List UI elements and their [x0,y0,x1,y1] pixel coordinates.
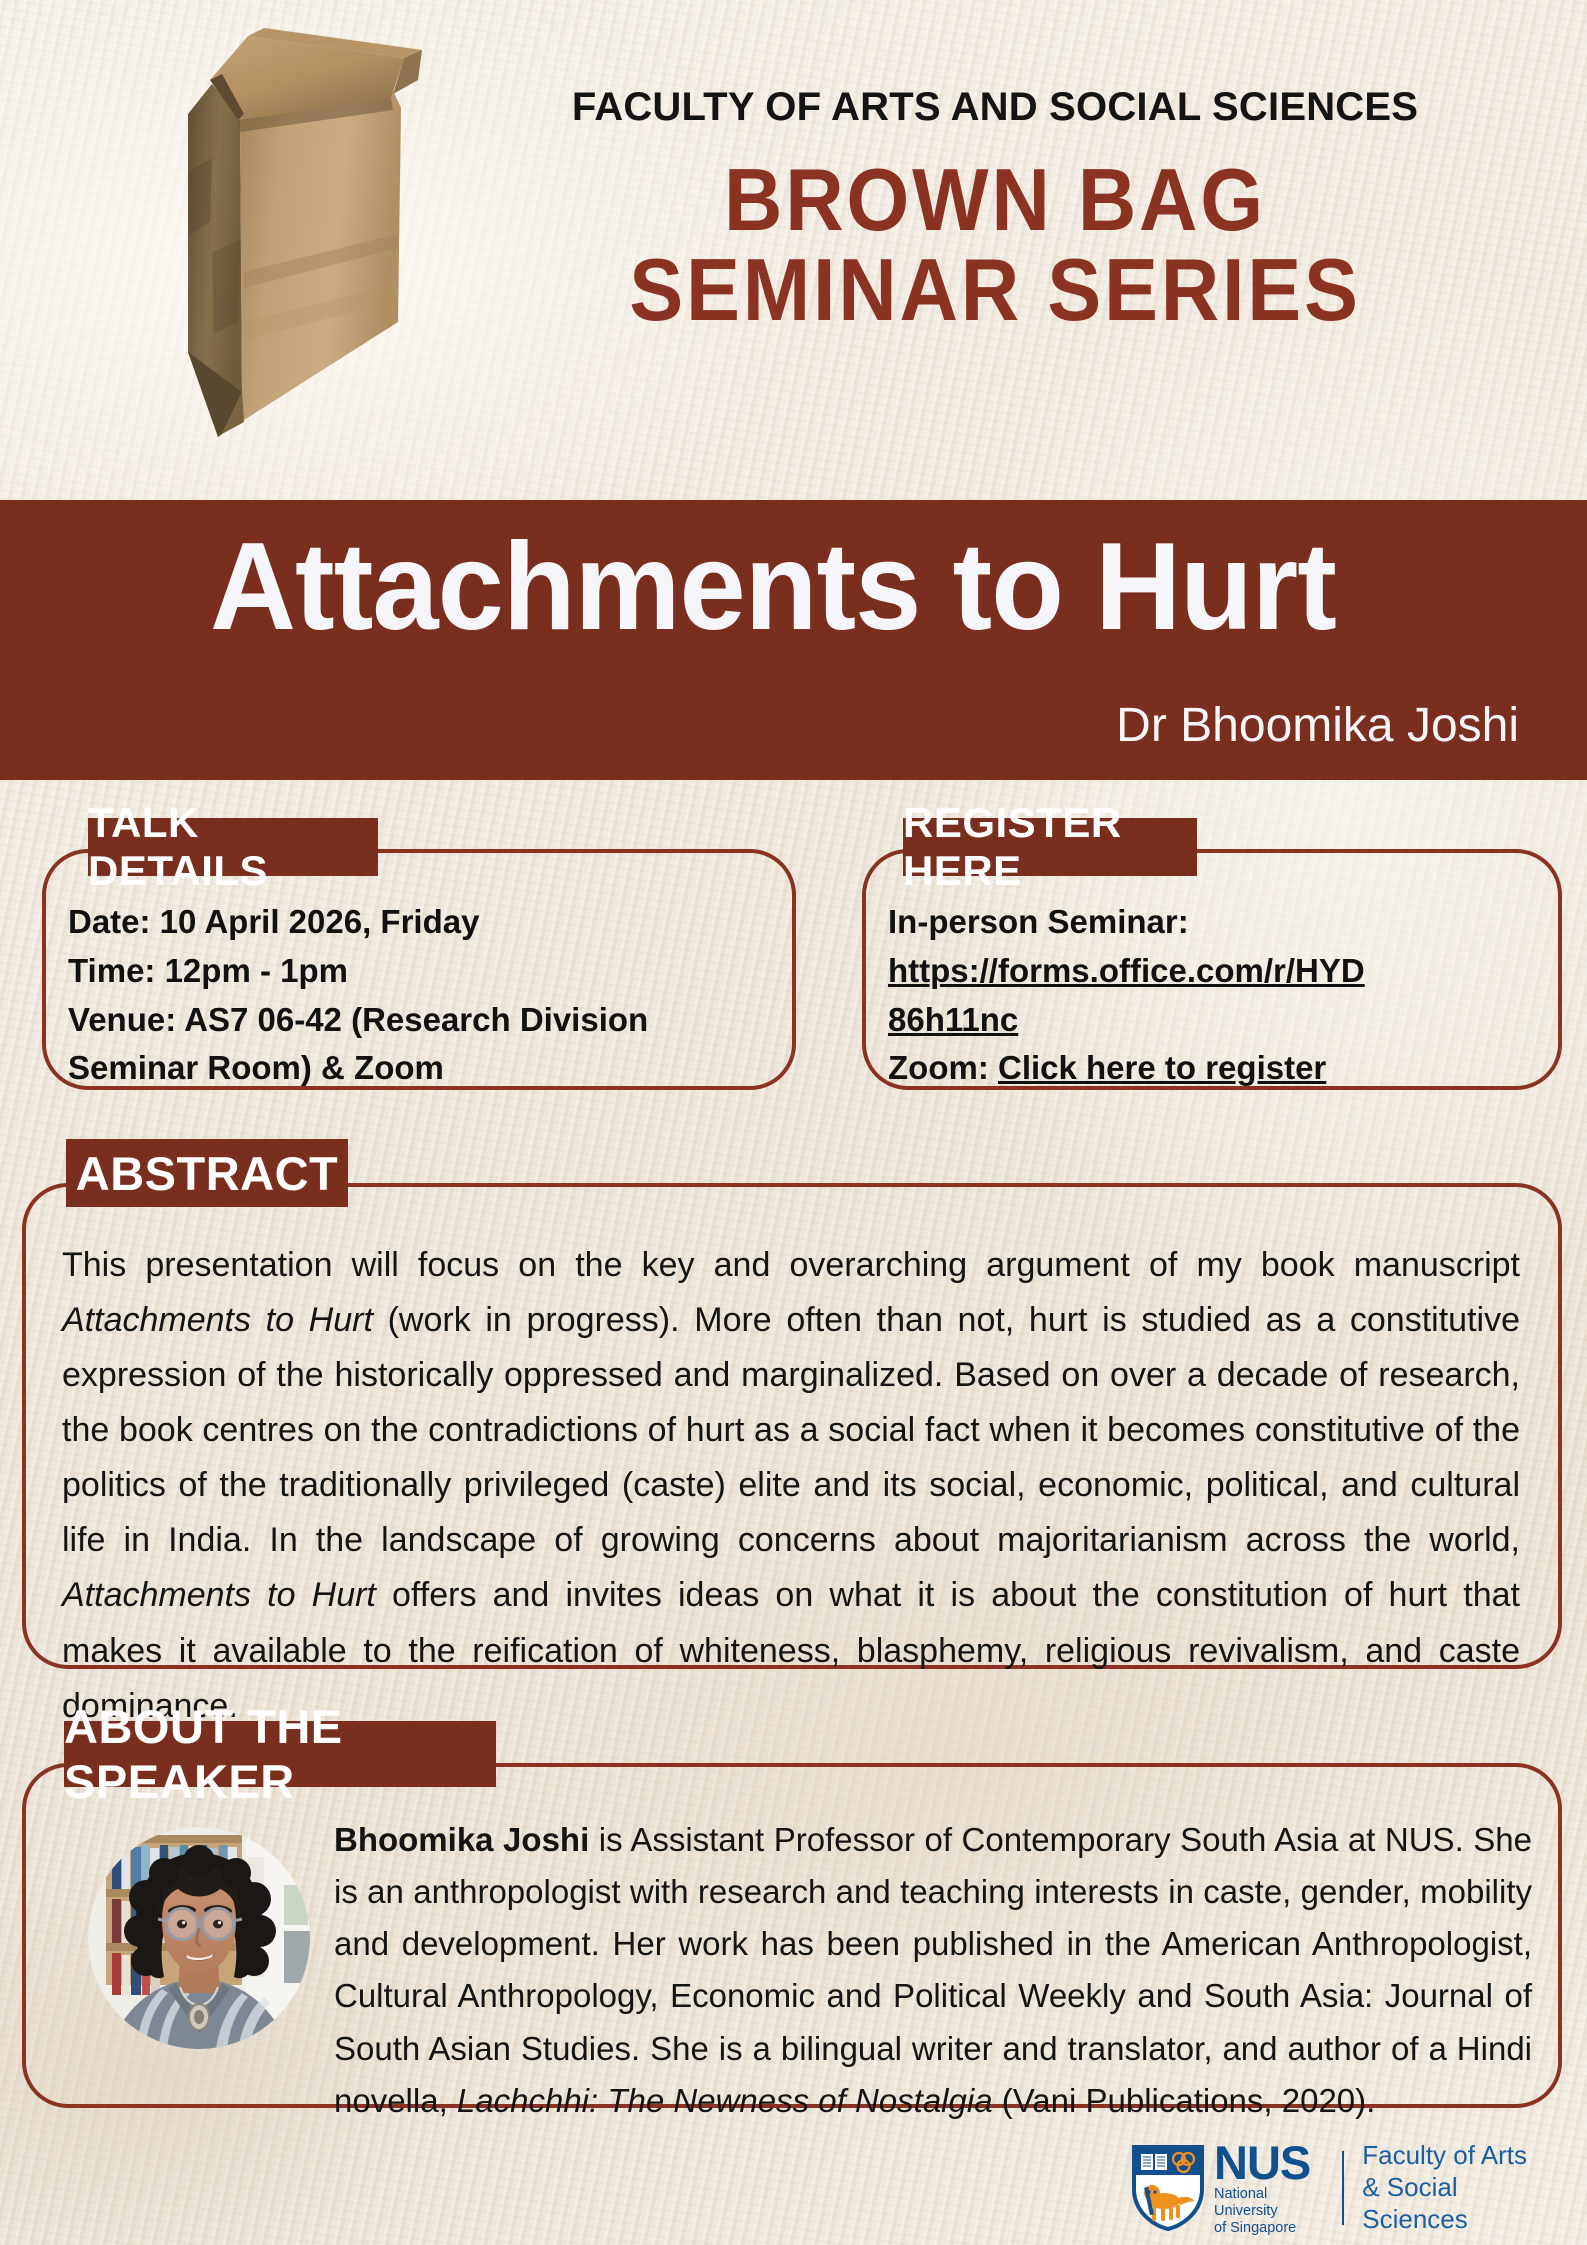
speaker-name-banner: Dr Bhoomika Joshi [1116,698,1519,753]
register-tab: REGISTER HERE [903,818,1197,876]
abstract-body: This presentation will focus on the key … [62,1238,1520,1734]
speaker-name: Bhoomika Joshi [334,1821,589,1858]
series-title-line2: SEMINAR SERIES [498,245,1492,335]
speaker-bio-part2: (Vani Publications, 2020). [993,2082,1376,2119]
fass-wordmark: Faculty of Arts & Social Sciences [1362,2140,1552,2235]
register-link-inperson-line2[interactable]: 86h11nc [888,996,1548,1045]
register-link-zoom[interactable]: Click here to register [998,1049,1326,1086]
series-title: BROWN BAG SEMINAR SERIES [498,155,1492,335]
fass-line2: & Social Sciences [1362,2172,1552,2235]
logo-divider [1342,2151,1344,2225]
speaker-book-title: Lachchhi: The Newness of Nostalgia [457,2082,993,2119]
poster-header: FACULTY OF ARTS AND SOCIAL SCIENCES BROW… [0,0,1587,500]
nus-subtitle-line2: of Singapore [1214,2220,1324,2237]
speaker-tab: ABOUT THE SPEAKER [64,1721,496,1787]
abstract-book-title-2: Attachments to Hurt [62,1576,376,1614]
series-title-line1: BROWN BAG [498,155,1492,245]
speaker-avatar [88,1827,310,2049]
fass-line-group: Faculty of Arts & Social Sciences [1362,2140,1552,2235]
talk-detail-line: Seminar Room) & Zoom [68,1044,768,1093]
abstract-book-title-1: Attachments to Hurt [62,1301,373,1339]
nus-fass-logo: NUS National University of Singapore Fac… [1132,2142,1552,2234]
register-body: In-person Seminar: https://forms.office.… [888,898,1548,1093]
faculty-title: FACULTY OF ARTS AND SOCIAL SCIENCES [455,85,1535,129]
nus-wordmark: NUS National University of Singapore [1214,2139,1324,2237]
speaker-bio: Bhoomika Joshi is Assistant Professor of… [334,1814,1532,2127]
zoom-label: Zoom: [888,1049,998,1086]
inperson-label: In-person Seminar: [888,898,1548,947]
nus-shield-icon [1132,2145,1204,2231]
talk-title: Attachments to Hurt [210,522,1336,652]
talk-details-body: Date: 10 April 2026, Friday Time: 12pm -… [68,898,768,1093]
brown-paper-bag-icon [152,22,442,492]
fass-line1: Faculty of Arts [1362,2140,1552,2172]
talk-details-tab: TALK DETAILS [88,818,378,876]
abstract-text-part1: This presentation will focus on the key … [62,1246,1520,1284]
talk-detail-line: Time: 12pm - 1pm [68,947,768,996]
talk-detail-line: Venue: AS7 06-42 (Research Division [68,996,768,1045]
talk-detail-line: Date: 10 April 2026, Friday [68,898,768,947]
title-banner: Attachments to Hurt Dr Bhoomika Joshi [0,500,1587,780]
nus-subtitle-line1: National University [1214,2186,1324,2220]
register-link-inperson-line1[interactable]: https://forms.office.com/r/HYD [888,947,1548,996]
seminar-poster: FACULTY OF ARTS AND SOCIAL SCIENCES BROW… [0,0,1587,2245]
abstract-text-part2: (work in progress). More often than not,… [62,1301,1520,1559]
abstract-tab: ABSTRACT [66,1139,348,1207]
header-text-block: FACULTY OF ARTS AND SOCIAL SCIENCES BROW… [455,85,1535,335]
nus-acronym: NUS [1214,2139,1324,2186]
speaker-bio-part1: is Assistant Professor of Contemporary S… [334,1821,1532,2119]
zoom-register-row: Zoom: Click here to register [888,1044,1548,1093]
